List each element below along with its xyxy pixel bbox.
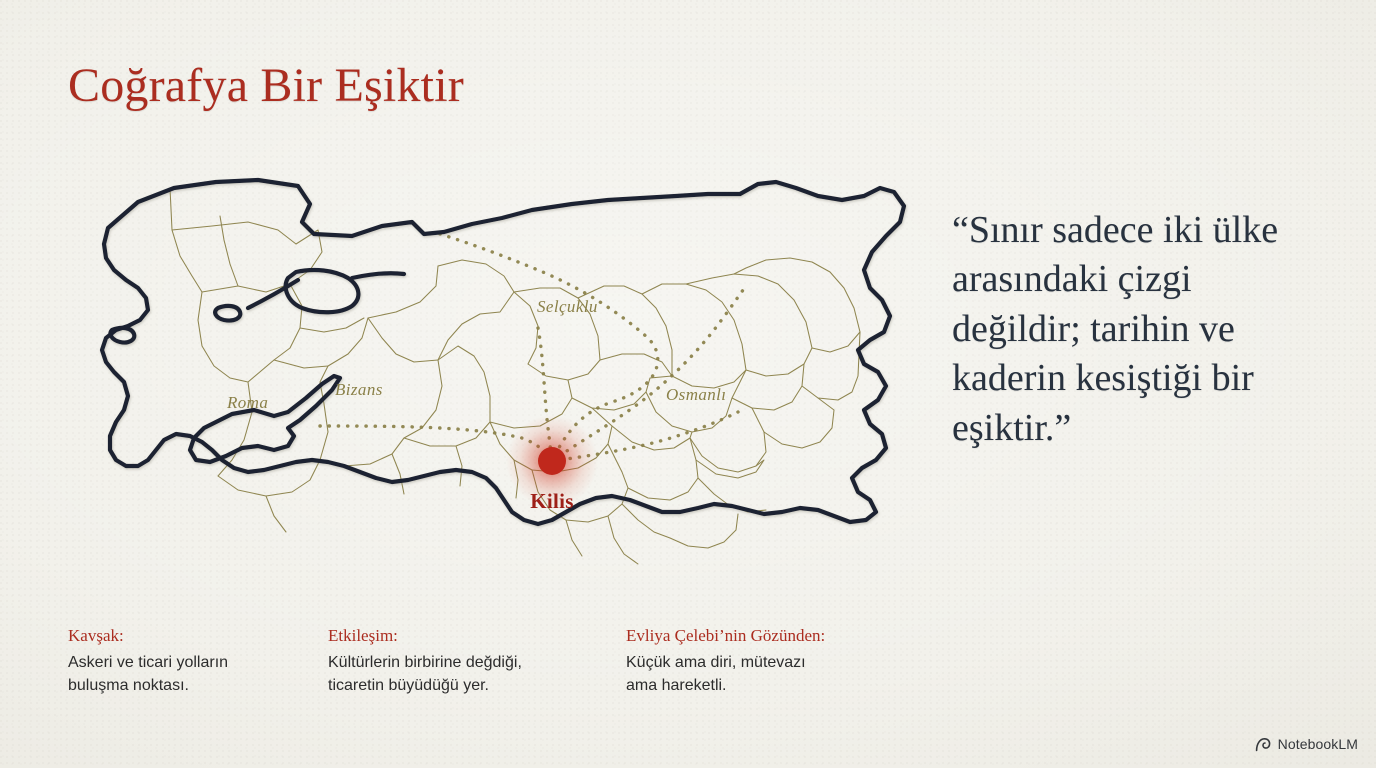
page-title: Coğrafya Bir Eşiktir — [68, 58, 464, 113]
map-label-osmanli: Osmanlı — [666, 385, 726, 404]
caption-body: Küçük ama diri, mütevazı ama hareketli. — [626, 652, 946, 697]
notebooklm-wordmark: NotebookLM — [1278, 736, 1358, 752]
caption-body: Askeri ve ticari yolların buluşma noktas… — [68, 652, 328, 697]
aegean-islet-2 — [110, 328, 134, 343]
caption-body: Kültürlerin birbirine değdiği, ticaretin… — [328, 652, 626, 697]
marmara-detail — [286, 270, 359, 312]
slide-canvas: Coğrafya Bir Eşiktir — [0, 0, 1376, 768]
caption-evliya-celebi: Evliya Çelebi’nin Gözünden: Küçük ama di… — [626, 626, 946, 697]
kilis-dot — [538, 447, 566, 475]
caption-etkilesim: Etkileşim: Kültürlerin birbirine değdiği… — [328, 626, 626, 697]
caption-kavsak: Kavşak: Askeri ve ticari yolların buluşm… — [68, 626, 328, 697]
turkey-map: Roma Bizans Selçuklu Osmanlı Kilis — [52, 160, 942, 600]
caption-heading: Evliya Çelebi’nin Gözünden: — [626, 626, 946, 646]
dardanelles-detail — [248, 280, 298, 308]
bosphorus-detail — [352, 273, 404, 278]
map-label-kilis: Kilis — [530, 489, 574, 513]
caption-heading: Kavşak: — [68, 626, 328, 646]
map-label-roma: Roma — [226, 393, 268, 412]
aegean-islet-1 — [215, 306, 240, 321]
province-borders — [170, 188, 860, 564]
caption-heading: Etkileşim: — [328, 626, 626, 646]
map-svg: Roma Bizans Selçuklu Osmanlı Kilis — [52, 160, 942, 600]
map-label-bizans: Bizans — [335, 380, 383, 399]
notebooklm-branding: NotebookLM — [1255, 736, 1358, 752]
pull-quote: “Sınır sadece iki ülke arasındaki çizgi … — [952, 206, 1324, 453]
notebooklm-spiral-icon — [1255, 737, 1272, 752]
map-label-selcuklu: Selçuklu — [537, 297, 598, 316]
caption-row: Kavşak: Askeri ve ticari yolların buluşm… — [68, 626, 1068, 697]
